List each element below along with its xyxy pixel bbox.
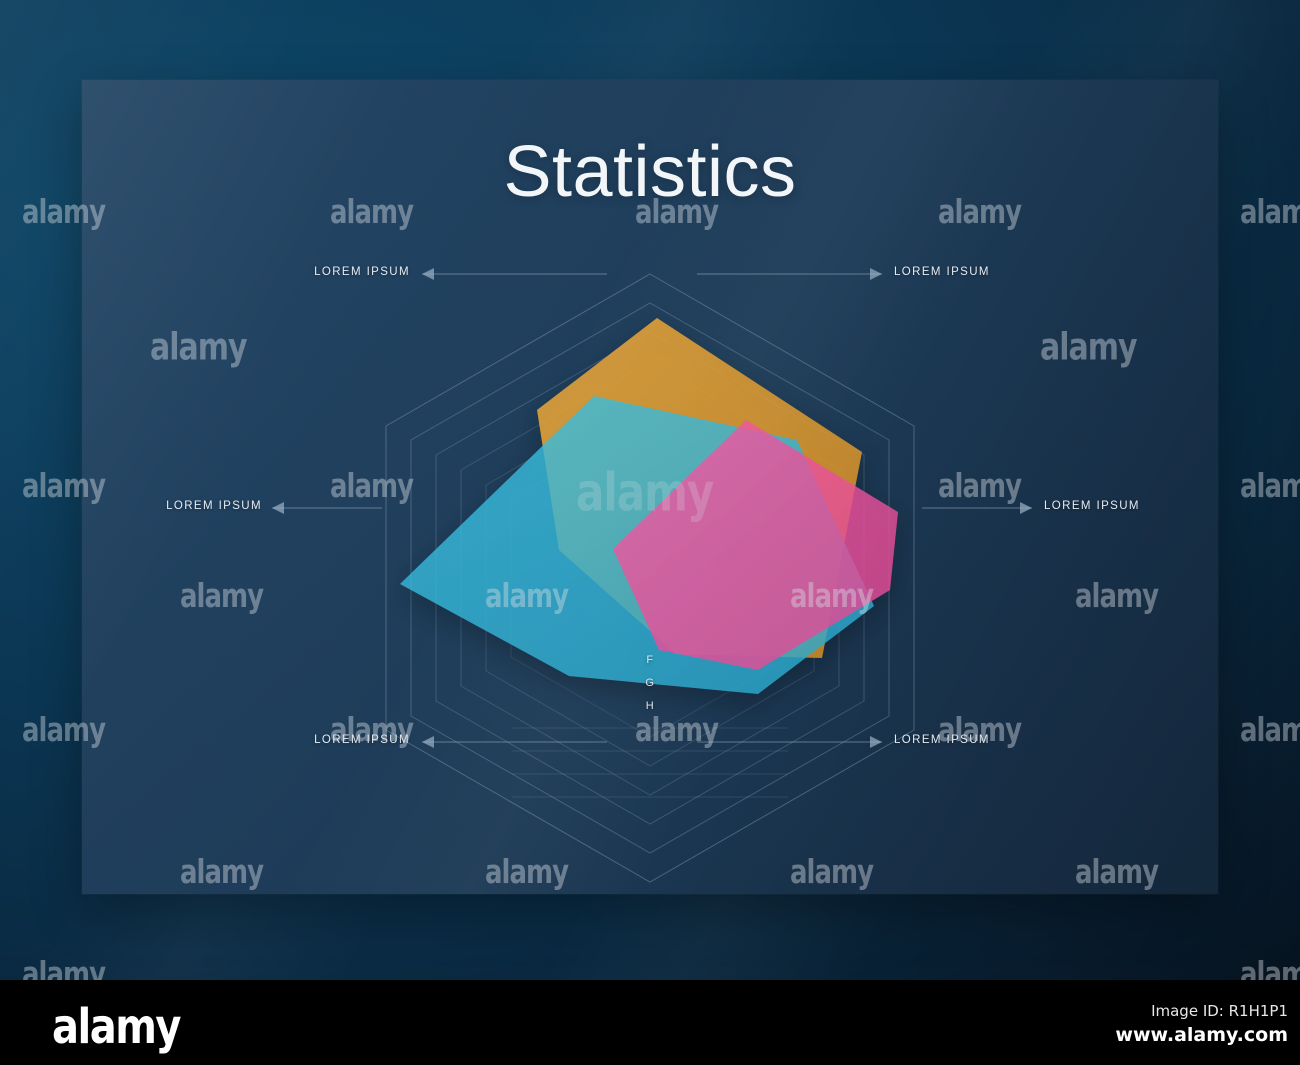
axis-letter-h: H [638,700,662,712]
arrow-left-icon-1 [422,268,434,280]
callout-label-bottom-left: LOREM IPSUM [210,734,410,746]
stock-footer [0,980,1300,1065]
callout-label-top-left: LOREM IPSUM [210,266,410,278]
callout-label-bottom-right: LOREM IPSUM [894,734,1114,746]
axis-letter-f: F [638,654,662,666]
watermark-mark: alamy [1240,956,1300,980]
arrow-right-icon-1 [870,268,882,280]
watermark-mark: alamy [22,956,105,980]
arrow-right-icon-3 [870,736,882,748]
arrow-left-icon-2 [272,502,284,514]
axis-letter-g: G [638,677,662,689]
arrow-left-icon-3 [422,736,434,748]
alamy-url-label[interactable]: www.alamy.com [1115,1024,1288,1046]
axis-rules [512,728,788,797]
alamy-logo[interactable]: alamy [52,1000,180,1055]
callout-label-top-right: LOREM IPSUM [894,266,1114,278]
callout-label-middle-right: LOREM IPSUM [1044,500,1218,512]
watermark-mark: alamy [1240,194,1300,232]
image-id-label: Image ID: R1H1P1 [1151,1002,1288,1020]
watermark-mark: alamy [1240,468,1300,506]
callout-label-middle-left: LOREM IPSUM [82,500,262,512]
radar-chart [82,80,1218,894]
stock-photo-frame: Statistics [0,0,1300,1065]
infographic-card: Statistics [82,80,1218,894]
artwork-canvas: Statistics [0,0,1300,980]
arrow-right-icon-2 [1020,502,1032,514]
watermark-mark: alamy [1240,712,1300,750]
